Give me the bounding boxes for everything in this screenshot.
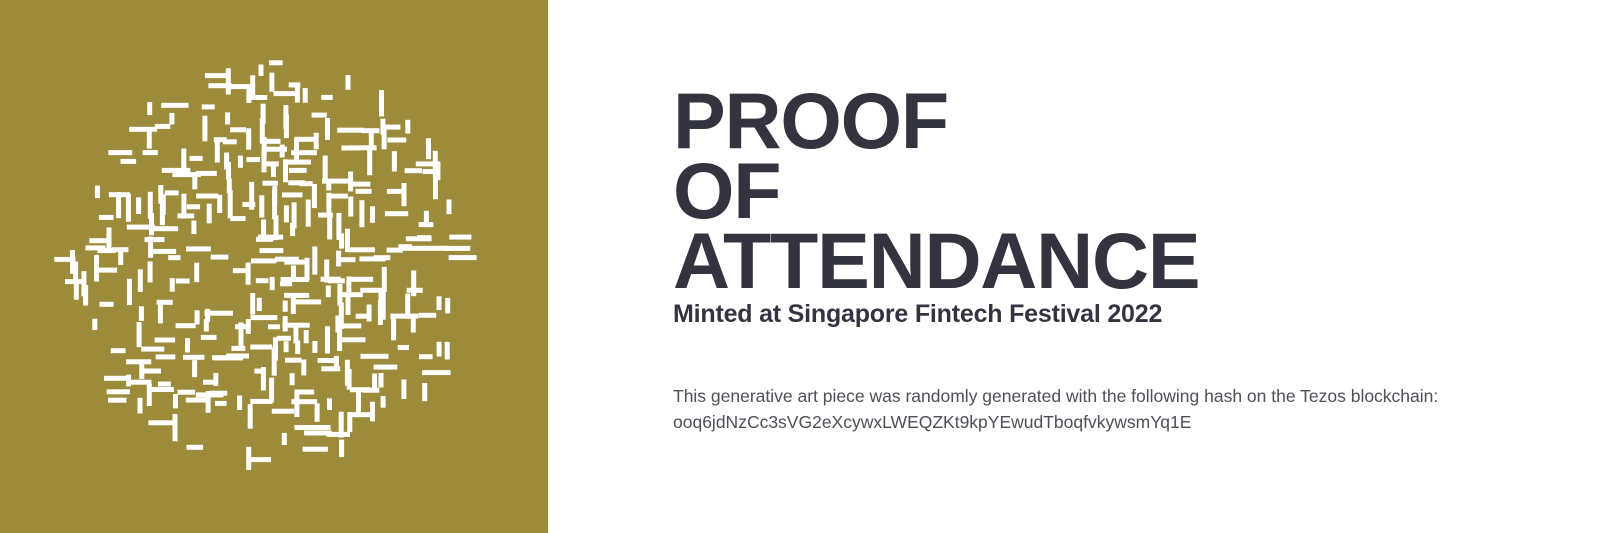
- hash-description-line: This generative art piece was randomly g…: [673, 383, 1533, 409]
- generative-art-disc: [0, 0, 548, 533]
- page-title: PROOF OF ATTENDANCE: [673, 86, 1199, 296]
- info-panel: PROOF OF ATTENDANCE Minted at Singapore …: [548, 0, 1600, 533]
- hash-value: ooq6jdNzCc3sVG2eXcywxLWEQZKt9kpYEwudTboq…: [673, 409, 1533, 435]
- event-subtitle: Minted at Singapore Fintech Festival 202…: [673, 298, 1162, 330]
- hash-description: This generative art piece was randomly g…: [673, 383, 1533, 435]
- artwork-panel: [0, 0, 548, 533]
- proof-of-attendance-card: PROOF OF ATTENDANCE Minted at Singapore …: [0, 0, 1600, 533]
- page-title-line-3: ATTENDANCE: [673, 226, 1199, 296]
